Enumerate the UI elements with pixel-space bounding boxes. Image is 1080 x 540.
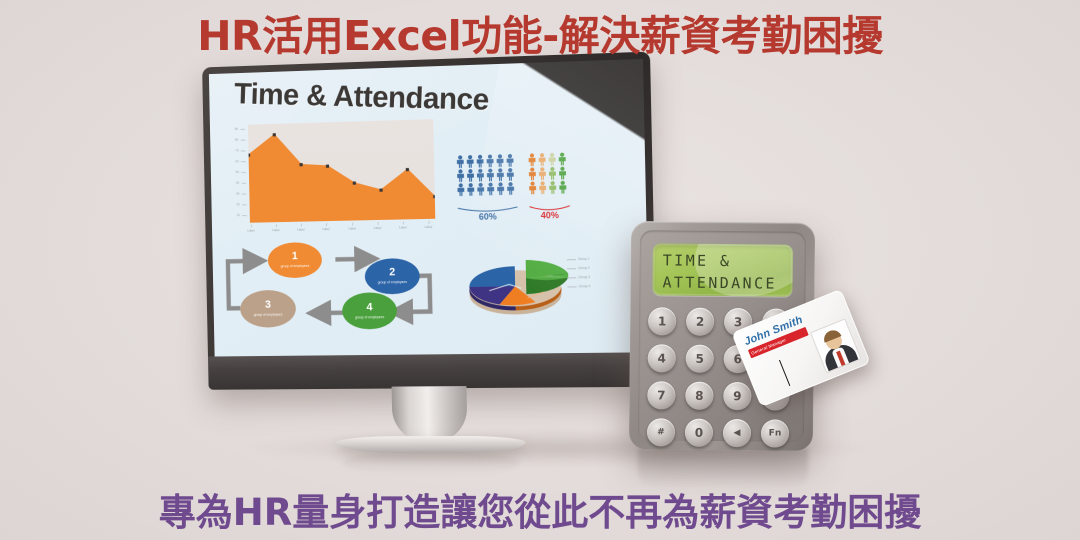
keypad-key-x[interactable]: ◀ (723, 419, 751, 447)
person-icon (496, 182, 505, 195)
legend-label: Group 3 (578, 275, 590, 279)
chart-x-tick: Label (343, 222, 361, 230)
legend-label: Group 4 (579, 284, 591, 288)
monitor-base (336, 436, 526, 453)
person-icon (506, 182, 515, 195)
poster-canvas: HR活用Excel功能-解決薪資考勤困擾 Time & Attendance 9… (0, 0, 1080, 540)
person-icon (558, 152, 567, 165)
person-icon (476, 183, 485, 196)
chart-y-tick: 60 (236, 159, 246, 163)
chart-y-tick: 80 (235, 138, 245, 142)
person-icon (558, 166, 567, 179)
area-series (248, 119, 435, 223)
legend-leader-line (567, 268, 576, 269)
legend-leader-line (567, 286, 576, 287)
chart-y-tick: 90 (235, 127, 245, 131)
chart-y-tick: 20 (237, 202, 247, 206)
person-icon (456, 183, 465, 196)
flow-node-number: 1 (292, 252, 298, 263)
pictogram-group-40: 40% (527, 152, 570, 195)
person-icon (496, 168, 505, 181)
keypad-key-8[interactable]: 8 (685, 382, 713, 410)
flow-node-number: 4 (366, 302, 372, 313)
person-icon (558, 181, 567, 194)
desktop-monitor: Time & Attendance 908070605040302010 Lab… (202, 52, 657, 390)
person-icon (538, 181, 547, 194)
chart-y-axis: 908070605040302010 (225, 127, 248, 222)
person-icon (486, 168, 495, 181)
pictogram-row (527, 152, 570, 166)
keypad-key-0[interactable]: 0 (685, 419, 713, 447)
person-icon (528, 167, 537, 180)
slide-title: Time & Attendance (234, 78, 490, 118)
pictogram-chart: 60%40% (456, 151, 608, 231)
pictogram-label-60: 60% (457, 211, 519, 222)
keypad-key-9[interactable]: 9 (723, 382, 751, 410)
person-icon (505, 154, 514, 167)
person-icon (476, 169, 485, 182)
chart-y-tick: 10 (237, 213, 247, 217)
flow-node-number: 3 (265, 300, 271, 311)
pie-legend-row: Group 1 (567, 257, 597, 262)
flow-node-caption: group of employees (378, 280, 407, 285)
monitor-bezel: Time & Attendance 908070605040302010 Lab… (202, 52, 657, 390)
pie-legend-row: Group 3 (567, 275, 597, 280)
chart-y-tick: 40 (236, 181, 246, 185)
pictogram-row (456, 168, 518, 183)
pictogram-row (528, 181, 571, 195)
chart-x-tick: Label (318, 223, 336, 231)
person-icon (476, 155, 485, 168)
chart-x-tick: Label (420, 221, 438, 230)
keypad-row: #0◀Fn (647, 418, 797, 448)
pie-legend: Group 1Group 2Group 3Group 4 (567, 257, 598, 294)
lcd-line-1: TIME & (663, 250, 793, 273)
keypad-key-4[interactable]: 4 (648, 344, 676, 372)
flow-node-number: 2 (389, 268, 395, 279)
person-icon (466, 169, 475, 182)
terminal-lcd-display: TIME & ATTENDANCE (652, 243, 793, 296)
person-icon (537, 153, 546, 166)
flow-node-caption: group of employees (281, 264, 310, 269)
keypad-key-1[interactable]: 1 (648, 307, 676, 335)
pie-svg (464, 241, 574, 325)
person-icon (538, 167, 547, 180)
chart-x-tick: Label (292, 223, 310, 231)
page-headline: HR活用Excel功能-解決薪資考勤困擾 (0, 2, 1080, 62)
person-icon (548, 153, 557, 166)
area-chart: 908070605040302010 LabelLabelLabelLabelL… (225, 119, 435, 233)
person-icon (486, 182, 495, 195)
keypad-key-Fn[interactable]: Fn (761, 419, 789, 447)
chart-y-tick: 30 (236, 191, 246, 195)
page-subline: 專為HR量身打造讓您從此不再為薪資考勤困擾 (0, 482, 1080, 536)
lcd-line-2: ATTENDANCE (662, 272, 792, 295)
person-icon (548, 167, 557, 180)
chart-plot-area (248, 119, 435, 223)
legend-leader-line (567, 277, 576, 278)
keypad-key-x[interactable]: # (647, 418, 675, 446)
monitor-screen: Time & Attendance 908070605040302010 Lab… (209, 59, 649, 357)
keypad-key-2[interactable]: 2 (686, 308, 714, 336)
person-icon (528, 181, 537, 194)
keypad-key-7[interactable]: 7 (647, 381, 675, 409)
person-icon (456, 155, 465, 168)
cycle-flow-diagram: 1 group of employees 2 group of employee… (222, 235, 452, 332)
chart-x-tick: Label (368, 222, 386, 230)
person-icon (548, 181, 557, 194)
pictogram-row (528, 166, 571, 180)
keypad-key-5[interactable]: 5 (686, 345, 714, 373)
person-icon (485, 154, 494, 167)
chart-x-tick: Label (267, 224, 284, 232)
chart-x-tick: Label (242, 224, 259, 232)
legend-leader-line (567, 259, 576, 260)
flow-node-caption: group of employees (355, 315, 384, 320)
legend-label: Group 2 (578, 266, 590, 270)
chart-y-tick: 50 (236, 170, 246, 174)
person-icon (466, 183, 475, 196)
person-icon (456, 169, 465, 182)
legend-label: Group 1 (578, 257, 590, 261)
pie-legend-row: Group 2 (567, 266, 597, 271)
pie-legend-row: Group 4 (567, 284, 597, 289)
person-icon (506, 168, 515, 181)
pie-chart-3d: Group 1Group 2Group 3Group 4 (464, 241, 596, 325)
pictogram-row (456, 182, 518, 196)
person-icon (466, 155, 475, 168)
chart-x-tick: Label (394, 221, 412, 230)
pictogram-label-40: 40% (529, 210, 571, 221)
monitor-base-reflection (342, 450, 520, 476)
id-card-barcode (755, 346, 825, 396)
flow-node-caption: group of employees (254, 313, 283, 318)
person-icon (495, 154, 504, 167)
pictogram-group-60: 60% (456, 154, 519, 198)
person-icon (527, 153, 536, 166)
chart-y-tick: 70 (236, 148, 246, 152)
pictogram-row (456, 154, 518, 169)
